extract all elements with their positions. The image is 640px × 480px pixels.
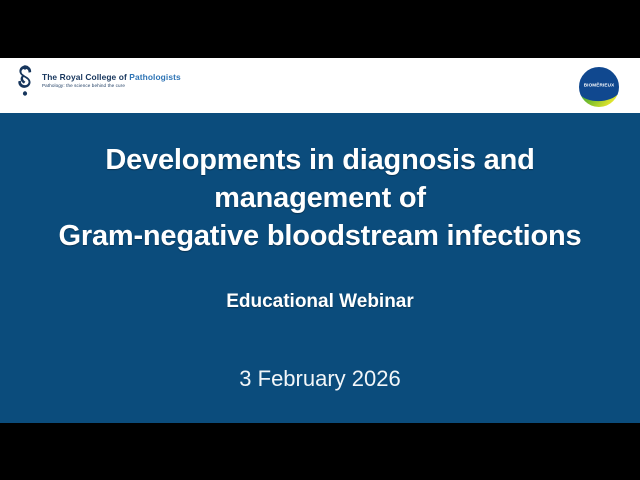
letterbox-bar-bottom	[0, 423, 640, 480]
slide-title-line-1: Developments in diagnosis and	[0, 141, 640, 179]
slide-body: Developments in diagnosis and management…	[0, 113, 640, 423]
royal-college-of-pathologists-logo: The Royal College of Pathologists Pathol…	[14, 65, 181, 96]
rcpath-wordmark: The Royal College of Pathologists Pathol…	[42, 73, 181, 89]
biomerieux-logo: BIOMÉRIEUX	[578, 66, 620, 108]
rcpath-serpent-emblem-icon	[14, 65, 36, 96]
rcpath-name-highlight: Pathologists	[129, 72, 180, 82]
rcpath-name-prefix: The Royal College of	[42, 72, 129, 82]
slide-header-band: The Royal College of Pathologists Pathol…	[0, 58, 640, 113]
slide-title-line-2: management of	[0, 179, 640, 217]
slide-title: Developments in diagnosis and management…	[0, 141, 640, 255]
svg-text:BIOMÉRIEUX: BIOMÉRIEUX	[584, 81, 615, 88]
biomerieux-circle-icon: BIOMÉRIEUX	[578, 66, 620, 108]
slide-subtitle: Educational Webinar	[0, 291, 640, 313]
presentation-slide: The Royal College of Pathologists Pathol…	[0, 58, 640, 423]
slide-title-line-3: Gram-negative bloodstream infections	[0, 217, 640, 255]
rcpath-name: The Royal College of Pathologists	[42, 73, 181, 81]
video-frame: The Royal College of Pathologists Pathol…	[0, 0, 640, 480]
letterbox-bar-top	[0, 0, 640, 58]
slide-event-date: 3 February 2026	[0, 366, 640, 392]
rcpath-tagline: Pathology: the science behind the cure	[42, 84, 181, 89]
